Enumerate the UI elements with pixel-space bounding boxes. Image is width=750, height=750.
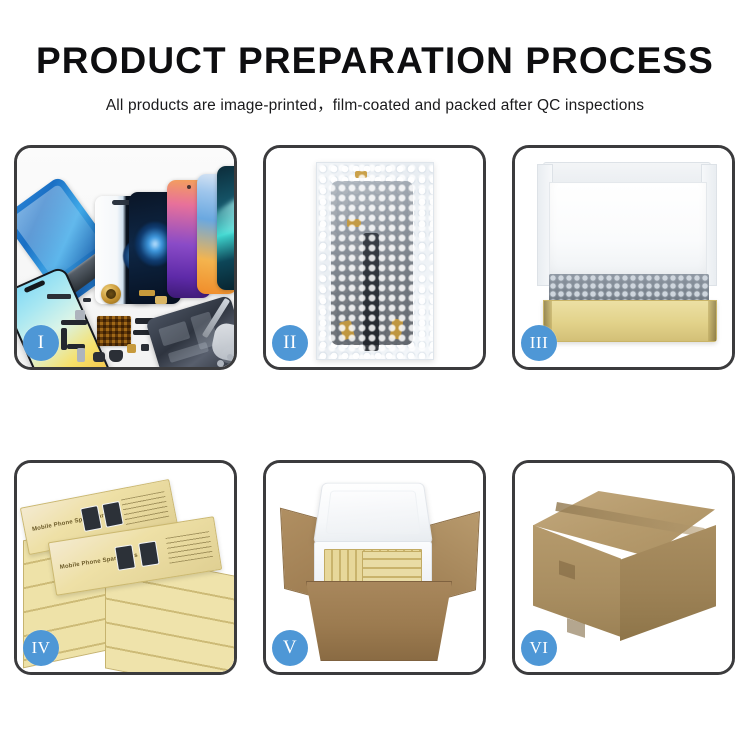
step-badge-4: IV [23,630,59,666]
vibration-motor-part [101,284,121,304]
box-spec-lines [166,531,214,564]
panel-carton-with-foam-insert: V [263,460,486,675]
box-product-thumbnail [138,541,160,568]
box-product-thumbnail [102,501,124,528]
sim-tray-part [77,348,85,362]
screw-part [227,354,233,360]
small-part [93,352,105,362]
housing-detail [158,321,190,346]
speaker-part [109,350,123,362]
step-badge-6: VI [521,630,557,666]
box-product-thumbnail [114,544,136,571]
connector [355,171,367,178]
page-title: PRODUCT PREPARATION PROCESS [0,0,750,79]
box-spec-lines [121,491,169,525]
small-part [141,344,149,351]
small-part [83,298,91,302]
page-subtitle: All products are image-printed，film-coat… [0,79,750,115]
camera-hole [187,185,191,189]
small-part [127,344,136,353]
chip-array-part [97,316,131,346]
small-part [75,310,85,320]
panel-stacked-retail-boxes: Mobile Phone Spare Parts Mobile Phone Sp… [14,460,237,675]
small-part [139,290,155,296]
kraft-box-tray [543,300,717,342]
product-preparation-infographic: PRODUCT PREPARATION PROCESS All products… [0,0,750,750]
carton-body [306,581,452,661]
flex-cable-part [61,320,87,325]
connector [347,219,361,227]
panel-parts-and-screens: I [14,145,237,370]
screw-part [217,360,224,367]
small-part [47,294,71,299]
white-foam-sheet [549,182,707,280]
step-badge-1: I [23,325,59,361]
step-badge-3: III [521,325,557,361]
part-strip [363,233,379,351]
housing-detail [168,342,209,363]
step-badge-5: V [272,630,308,666]
notch [24,280,46,294]
styrofoam-lid [313,483,433,545]
panel-sealed-shipping-carton: VI [512,460,735,675]
bubble-wrap-bag [316,162,434,360]
panel-open-kraft-box: III [512,145,735,370]
header: PRODUCT PREPARATION PROCESS All products… [0,0,750,115]
process-step-grid: I II [14,145,736,675]
box-product-thumbnail [80,505,102,532]
panel-bubble-wrapped-part: II [263,145,486,370]
small-part [155,296,167,304]
teal-swirl-phone [217,166,234,290]
gray-bubble-wrap [549,274,709,302]
step-badge-2: II [272,325,308,361]
